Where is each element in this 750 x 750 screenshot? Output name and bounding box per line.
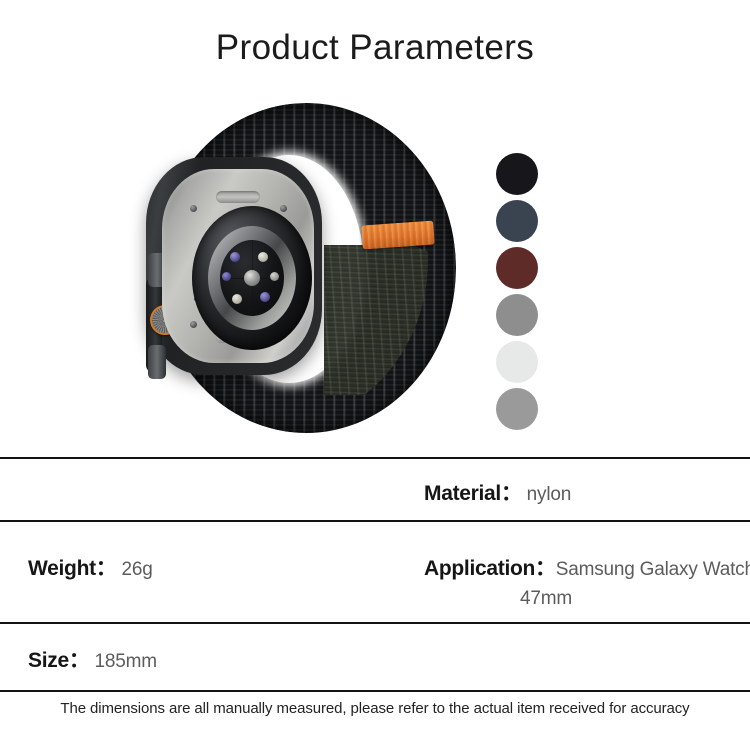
specifications-table: Material： nylon Weight： 26g Application：… bbox=[0, 457, 750, 692]
table-divider bbox=[0, 690, 750, 692]
spec-label-size: Size： bbox=[28, 644, 90, 674]
product-hero bbox=[0, 95, 750, 450]
watch-case bbox=[146, 157, 322, 375]
spec-label-application: Application： bbox=[424, 552, 556, 582]
spec-value-application-line2: 47mm bbox=[424, 588, 724, 610]
spec-label-weight: Weight： bbox=[28, 552, 117, 582]
table-row-material: Material： nylon bbox=[0, 459, 750, 520]
spec-value-material: nylon bbox=[527, 484, 571, 506]
case-screw bbox=[190, 205, 197, 212]
sensor-led-icon bbox=[258, 252, 268, 262]
product-image-smartwatch bbox=[128, 95, 468, 445]
sensor-array bbox=[220, 240, 284, 316]
sensor-led-icon bbox=[230, 252, 240, 262]
case-back-plate bbox=[162, 169, 314, 363]
spec-weight: Weight： 26g bbox=[28, 552, 153, 582]
table-row-weight-application: Weight： 26g Application： Samsung Galaxy … bbox=[0, 522, 750, 622]
spec-value-weight: 26g bbox=[122, 559, 153, 581]
table-row-size: Size： 185mm bbox=[0, 624, 750, 690]
sensor-led-icon bbox=[260, 292, 270, 302]
sensor-metal-ring bbox=[208, 226, 296, 330]
speaker-slot-top bbox=[216, 191, 260, 203]
case-screw bbox=[280, 205, 287, 212]
sensor-led-icon bbox=[232, 294, 242, 304]
spec-application: Application： Samsung Galaxy Watch Ultra … bbox=[424, 552, 724, 610]
band-orange-g-hook bbox=[361, 221, 434, 250]
color-swatch-navy-slate[interactable] bbox=[496, 200, 538, 242]
color-swatch-list bbox=[496, 153, 540, 435]
color-swatch-off-white[interactable] bbox=[496, 341, 538, 383]
heart-rate-lens-icon bbox=[244, 270, 260, 286]
measurement-disclaimer: The dimensions are all manually measured… bbox=[0, 700, 750, 717]
color-swatch-dark-maroon[interactable] bbox=[496, 247, 538, 289]
spec-label-material: Material： bbox=[424, 477, 522, 507]
spec-value-application: Samsung Galaxy Watch Ultra bbox=[556, 559, 750, 581]
color-swatch-black[interactable] bbox=[496, 153, 538, 195]
sensor-glass-dome bbox=[192, 206, 312, 350]
spec-material: Material： nylon bbox=[424, 477, 571, 507]
spec-size: Size： 185mm bbox=[28, 644, 157, 674]
case-screw bbox=[190, 321, 197, 328]
color-swatch-mid-gray[interactable] bbox=[496, 388, 538, 430]
side-button-bottom bbox=[148, 345, 166, 379]
sensor-led-icon bbox=[270, 272, 279, 281]
page-title: Product Parameters bbox=[0, 28, 750, 68]
sensor-led-icon bbox=[222, 272, 231, 281]
spec-value-size: 185mm bbox=[95, 651, 157, 673]
color-swatch-gray[interactable] bbox=[496, 294, 538, 336]
